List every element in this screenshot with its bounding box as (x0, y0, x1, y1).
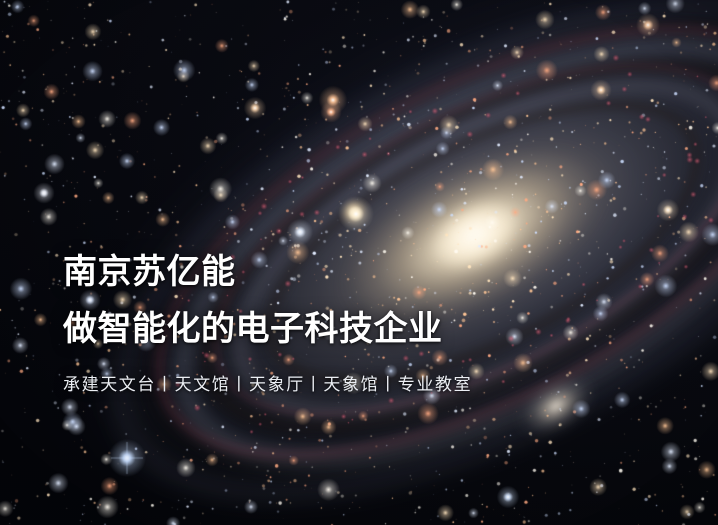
hero-title-line-2: 做智能化的电子科技企业 (63, 305, 663, 353)
hero-banner: 南京苏亿能 做智能化的电子科技企业 承建天文台丨天文馆丨天象厅丨天象馆丨专业教室 (0, 0, 718, 525)
hero-subtitle: 承建天文台丨天文馆丨天象厅丨天象馆丨专业教室 (63, 373, 663, 397)
hero-copy: 南京苏亿能 做智能化的电子科技企业 承建天文台丨天文馆丨天象厅丨天象馆丨专业教室 (63, 248, 663, 397)
hero-title-line-1: 南京苏亿能 (63, 248, 663, 296)
